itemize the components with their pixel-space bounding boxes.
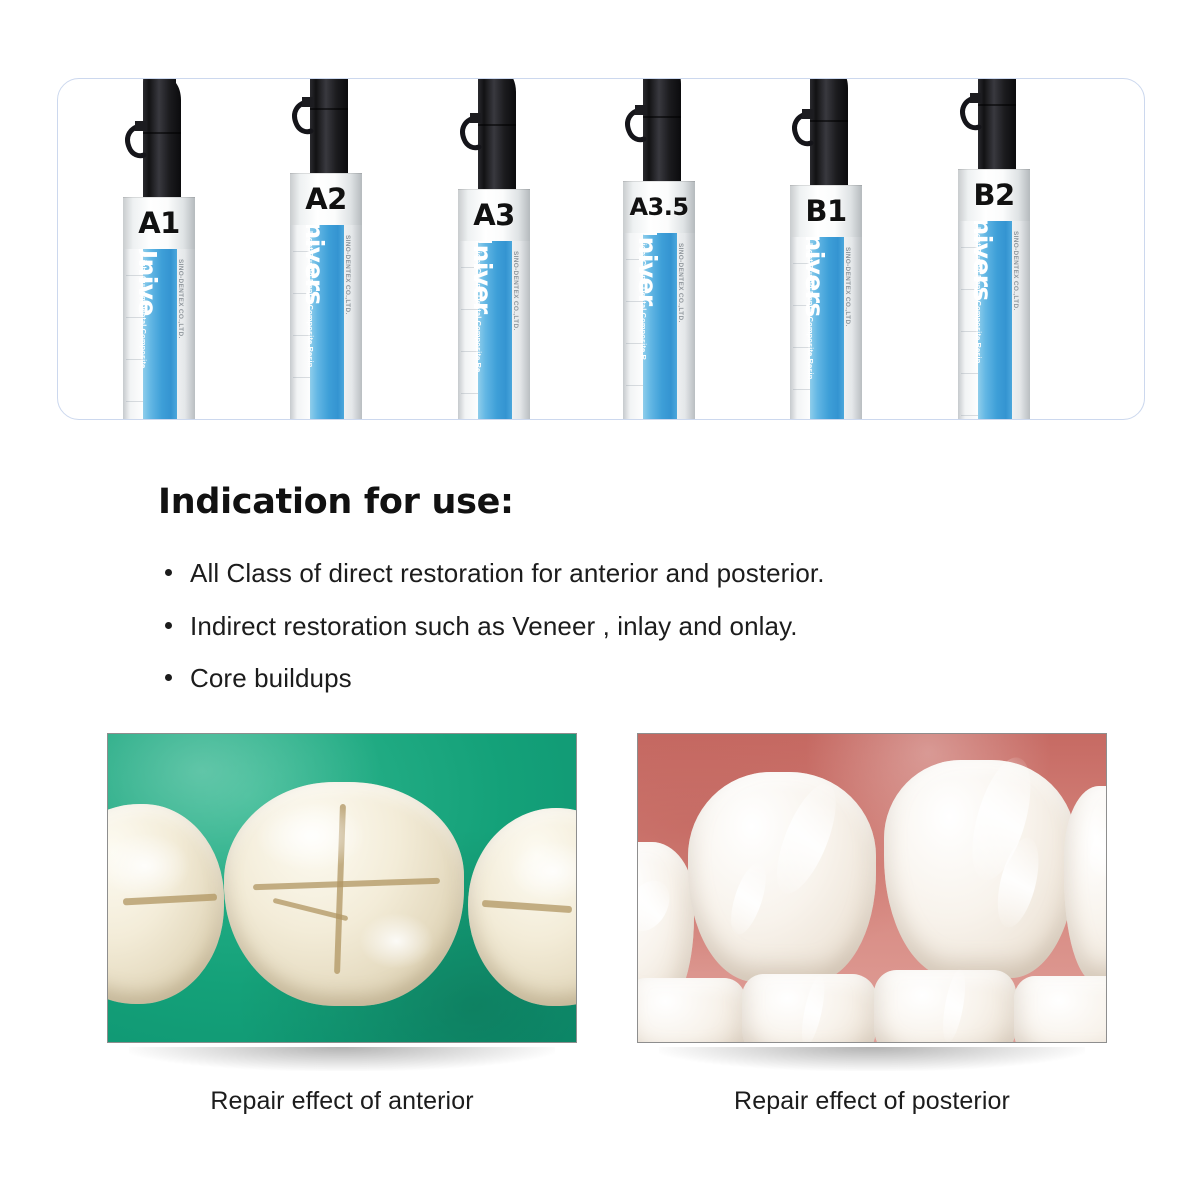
shade-band: B1	[790, 185, 862, 237]
syringe-barrel: Dx.UniversLight Curing Dental Composite …	[958, 221, 1030, 420]
blue-label: Dx.UniverLight Curing Dental Composite R…	[478, 241, 512, 420]
shade-code: A3	[473, 201, 515, 230]
clinical-photo-anterior-block: Repair effect of anterior	[107, 733, 577, 1043]
company-name: SINO-DENTEX CO.,LTD.	[844, 247, 851, 327]
clinical-photo-posterior	[637, 733, 1107, 1043]
shade-code: B1	[805, 197, 846, 226]
bullet-dot-icon	[165, 569, 172, 576]
company-name: SINO-DENTEX CO.,LTD.	[344, 235, 351, 315]
indication-item-label: All Class of direct restoration for ante…	[190, 558, 825, 588]
indication-item-label: Indirect restoration such as Veneer , in…	[190, 611, 798, 641]
lower-tooth	[874, 970, 1016, 1043]
bullet-dot-icon	[165, 622, 172, 629]
indication-heading: Indication for use:	[158, 482, 514, 522]
syringe-row: A1Dx.UniveLight Curing Dental CompositeS…	[58, 79, 1144, 419]
incisor-tooth	[884, 760, 1076, 978]
blue-label: Dx.UniveLight Curing Dental Composite	[143, 249, 177, 420]
shade-band: A2	[290, 173, 362, 225]
syringe-b1[interactable]: B1Dx.UniversLight Curing Dental Composit…	[790, 78, 862, 420]
product-tagline: Light Curing Dental Composite R	[640, 239, 648, 360]
shade-band: A1	[123, 197, 195, 249]
syringe-cap-icon	[623, 78, 695, 181]
product-tagline: Light Curing Dental Composite Resin	[307, 231, 315, 367]
product-tagline: Light Curing Dental Composite Resin	[807, 243, 815, 379]
indication-item: All Class of direct restoration for ante…	[163, 557, 1083, 590]
syringe-barrel: Dx.UniverLight Curing Dental Composite R…	[458, 241, 530, 420]
lower-tooth	[637, 978, 746, 1043]
lower-tooth	[742, 974, 876, 1043]
blue-label: Dx.UniverLight Curing Dental Composite R	[643, 233, 677, 420]
syringe-barrel: Dx.UniverLight Curing Dental Composite R…	[623, 233, 695, 420]
company-name: SINO-DENTEX CO.,LTD.	[1012, 231, 1019, 311]
product-lineup-panel: A1Dx.UniveLight Curing Dental CompositeS…	[57, 78, 1145, 420]
shade-band: A3.5	[623, 181, 695, 233]
shade-code: A2	[305, 185, 347, 214]
photo-caption-posterior: Repair effect of posterior	[637, 1087, 1107, 1116]
indication-item: Indirect restoration such as Veneer , in…	[163, 610, 1083, 643]
shade-code: A1	[138, 209, 180, 238]
shade-band: B2	[958, 169, 1030, 221]
syringe-barrel: Dx.UniversLight Curing Dental Composite …	[790, 237, 862, 420]
photo-drop-shadow	[129, 1047, 555, 1071]
syringe-cap-icon	[958, 78, 1030, 169]
syringe-a3-5[interactable]: A3.5Dx.UniverLight Curing Dental Composi…	[623, 78, 695, 420]
blue-label: Dx.UniversLight Curing Dental Composite …	[978, 221, 1012, 420]
product-tagline: Light Curing Dental Composite Resin	[975, 227, 983, 363]
bullet-dot-icon	[165, 674, 172, 681]
syringe-a3[interactable]: A3Dx.UniverLight Curing Dental Composite…	[458, 78, 530, 420]
company-name: SINO-DENTEX CO.,LTD.	[677, 243, 684, 323]
syringe-barrel: Dx.UniversLight Curing Dental Composite …	[290, 225, 362, 420]
shade-code: B2	[973, 181, 1014, 210]
syringe-cap-icon	[123, 78, 195, 197]
clinical-photo-posterior-block: Repair effect of posterior	[637, 733, 1107, 1043]
clinical-photo-anterior	[107, 733, 577, 1043]
blue-label: Dx.UniversLight Curing Dental Composite …	[310, 225, 344, 420]
lower-tooth	[1014, 976, 1107, 1043]
molar-tooth	[224, 782, 464, 1006]
blue-label: Dx.UniversLight Curing Dental Composite …	[810, 237, 844, 420]
product-tagline: Light Curing Dental Composite Re	[475, 247, 483, 372]
syringe-barrel: Dx.UniveLight Curing Dental CompositeSIN…	[123, 249, 195, 420]
shade-code: A3.5	[629, 195, 688, 219]
syringe-a1[interactable]: A1Dx.UniveLight Curing Dental CompositeS…	[123, 78, 195, 420]
syringe-b2[interactable]: B2Dx.UniversLight Curing Dental Composit…	[958, 78, 1030, 420]
syringe-cap-icon	[290, 78, 362, 173]
indication-item: Core buildups	[163, 662, 1083, 695]
indication-list: All Class of direct restoration for ante…	[163, 557, 1083, 715]
syringe-cap-icon	[458, 78, 530, 189]
product-tagline: Light Curing Dental Composite	[140, 255, 148, 368]
photo-drop-shadow	[659, 1047, 1085, 1071]
syringe-cap-icon	[790, 78, 862, 185]
company-name: SINO-DENTEX CO.,LTD.	[512, 251, 519, 331]
shade-band: A3	[458, 189, 530, 241]
photo-caption-anterior: Repair effect of anterior	[107, 1087, 577, 1116]
company-name: SINO-DENTEX CO.,LTD.	[177, 259, 184, 339]
incisor-tooth	[688, 772, 876, 982]
syringe-a2[interactable]: A2Dx.UniversLight Curing Dental Composit…	[290, 78, 362, 420]
indication-item-label: Core buildups	[190, 663, 352, 693]
